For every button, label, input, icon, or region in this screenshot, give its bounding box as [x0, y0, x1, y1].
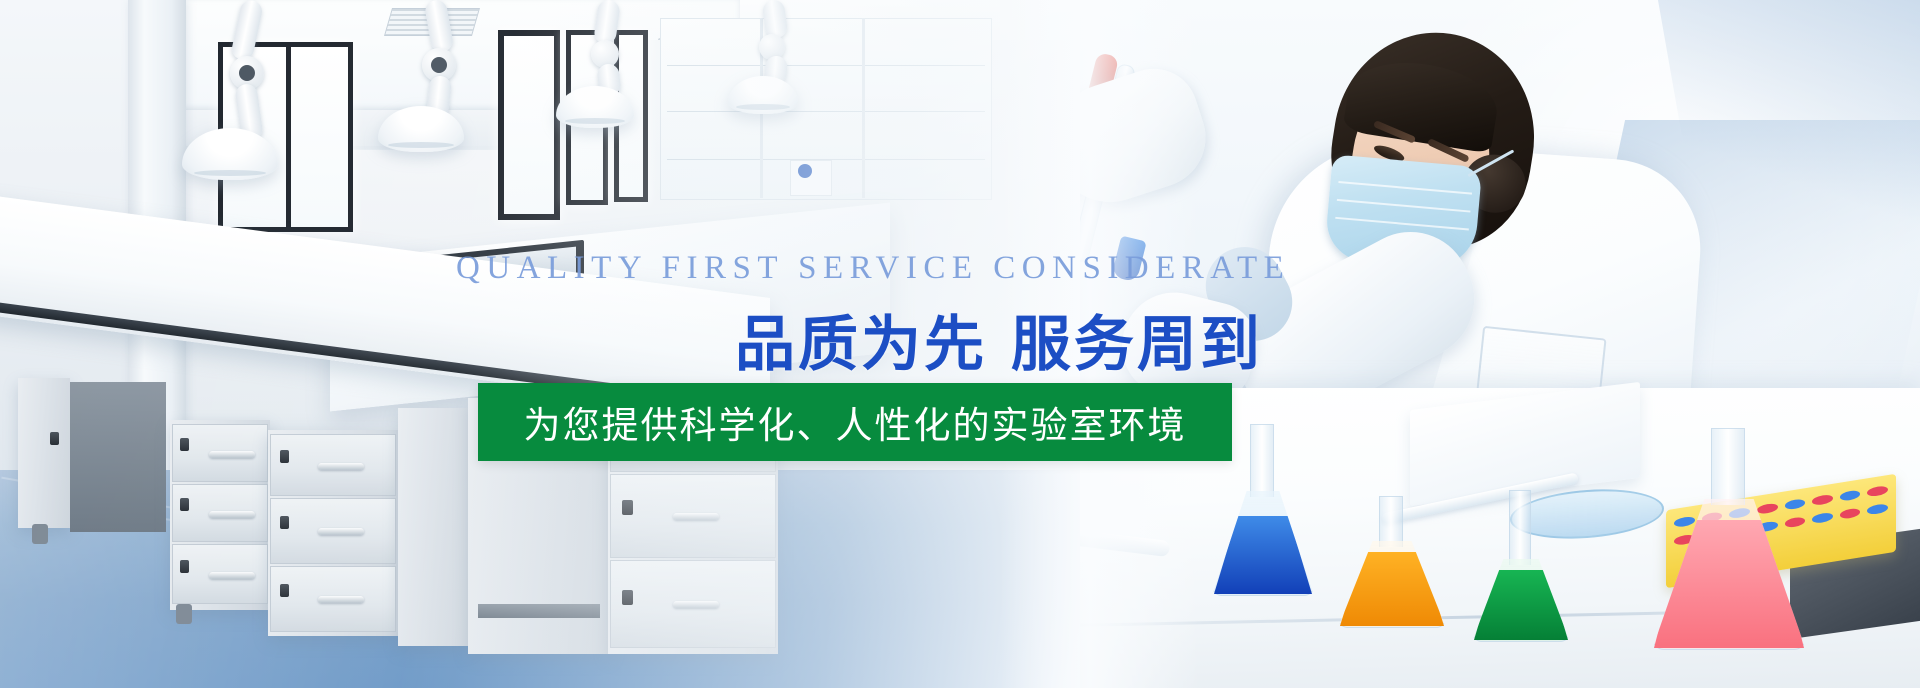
banner-headline: 品质为先 服务周到: [735, 296, 1263, 383]
hero-banner: QUALITY FIRST SERVICE CONSIDERATE 品质为先 服…: [0, 0, 1920, 688]
banner-subtitle-text: 为您提供科学化、人性化的实验室环境: [524, 395, 1187, 449]
english-tagline: QUALITY FIRST SERVICE CONSIDERATE: [456, 250, 1290, 287]
banner-text-block: QUALITY FIRST SERVICE CONSIDERATE 品质为先 服…: [0, 0, 1920, 688]
banner-subtitle-bar: 为您提供科学化、人性化的实验室环境: [478, 383, 1232, 461]
